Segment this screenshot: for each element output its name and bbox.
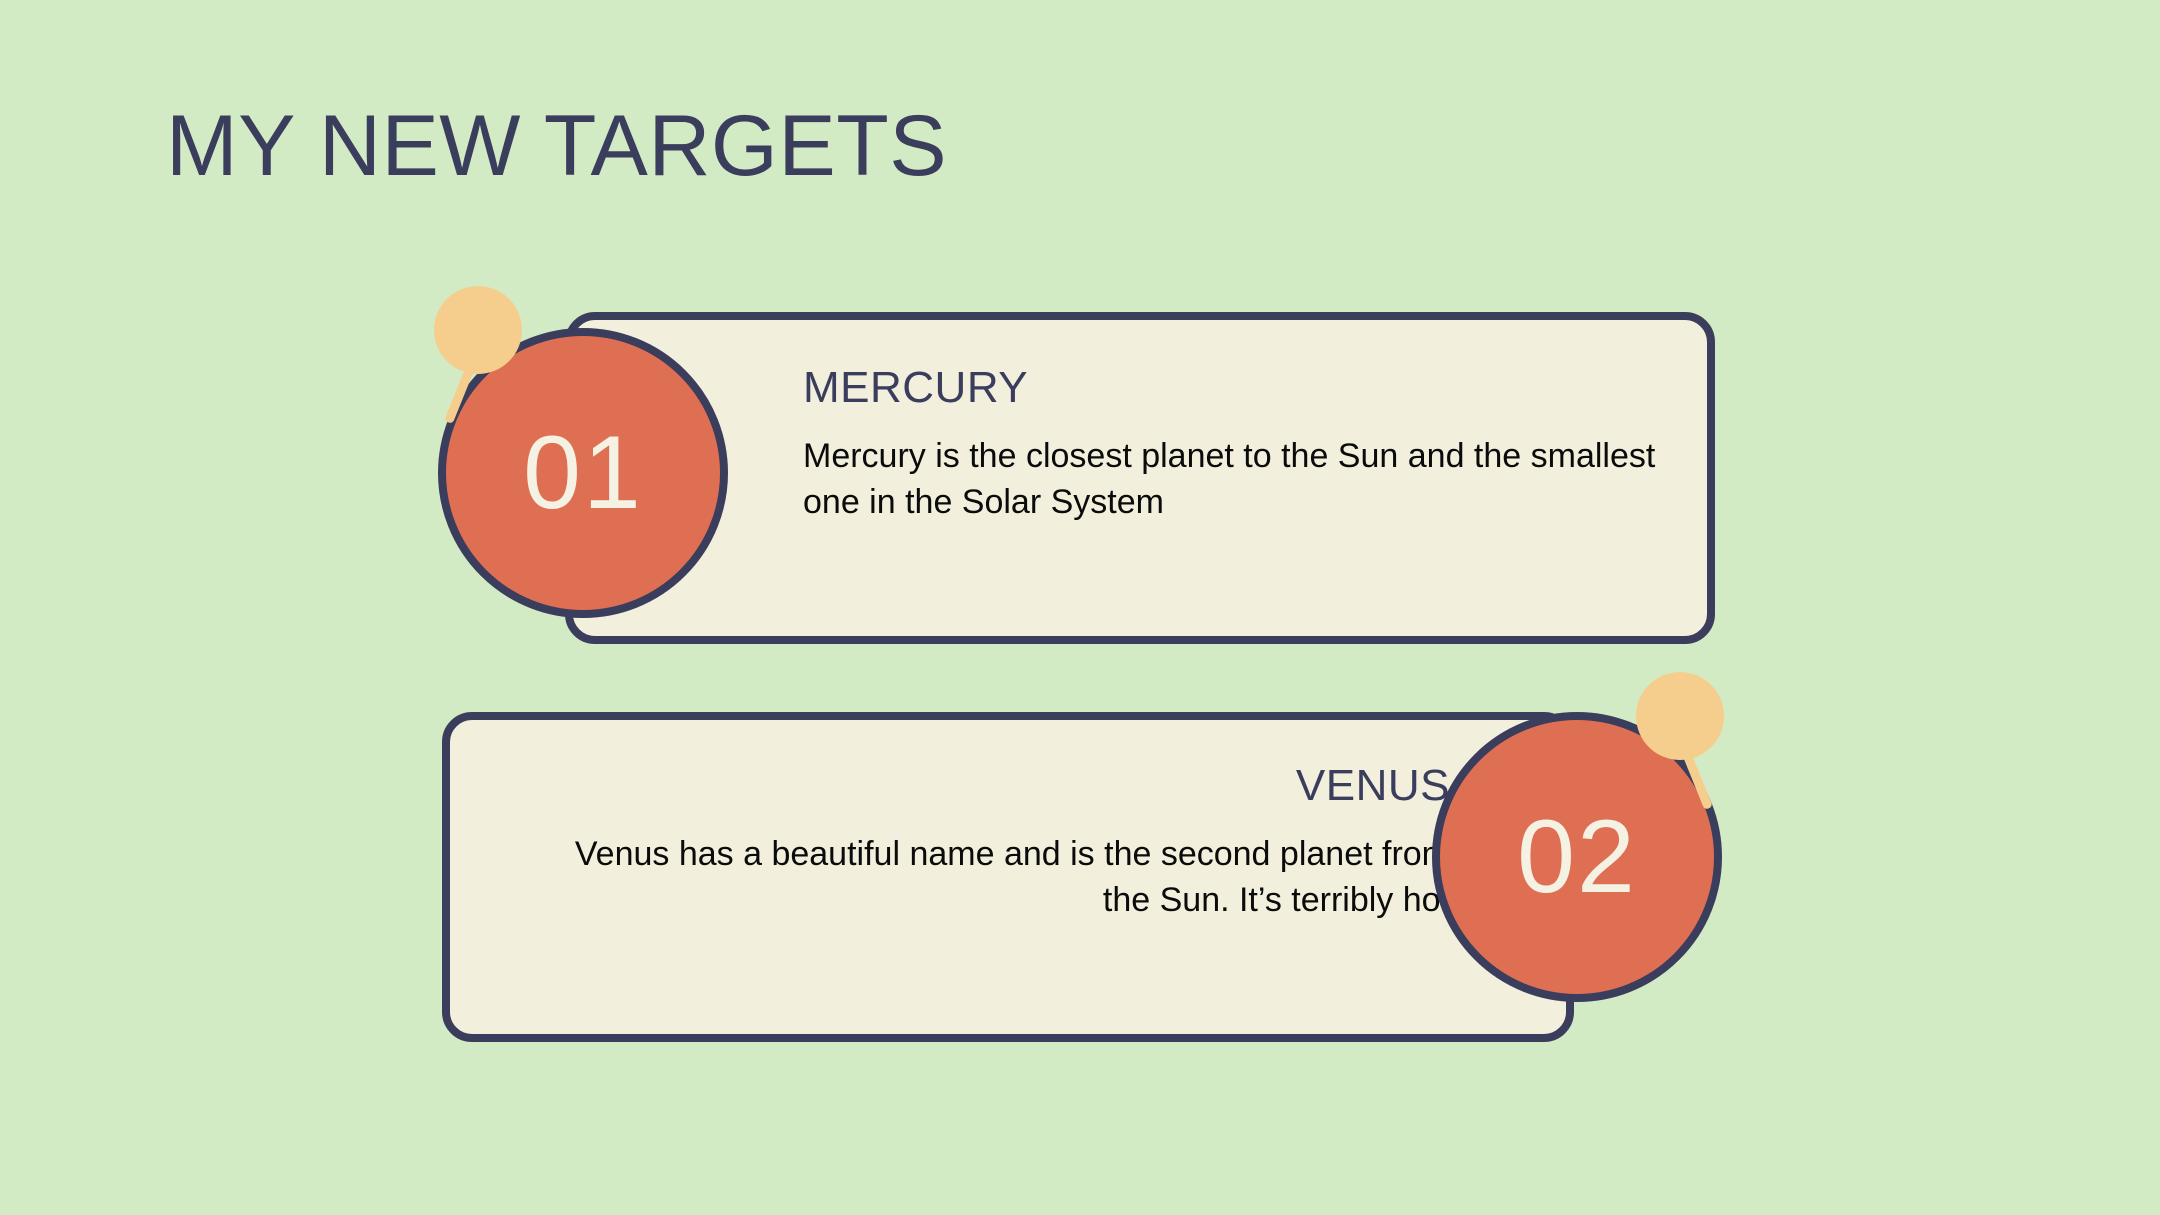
card-heading-mercury: MERCURY	[803, 364, 1703, 412]
content-card-mercury: MERCURY Mercury is the closest planet to…	[565, 312, 1715, 644]
number-badge-02: 02	[1432, 712, 1722, 1002]
page-title: MY NEW TARGETS	[166, 103, 947, 189]
number-badge-01: 01	[438, 328, 728, 618]
content-card-venus: VENUS Venus has a beautiful name and is …	[442, 712, 1574, 1042]
badge-number-02: 02	[1432, 712, 1722, 1002]
card-text-block-mercury: MERCURY Mercury is the closest planet to…	[803, 364, 1703, 526]
card-text-block-venus: VENUS Venus has a beautiful name and is …	[520, 762, 1450, 924]
badge-number-01: 01	[438, 328, 728, 618]
slide-canvas: MY NEW TARGETS MERCURY Mercury is the cl…	[0, 0, 2160, 1215]
card-heading-venus: VENUS	[520, 762, 1450, 810]
card-body-venus: Venus has a beautiful name and is the se…	[520, 832, 1450, 924]
card-body-mercury: Mercury is the closest planet to the Sun…	[803, 434, 1703, 526]
